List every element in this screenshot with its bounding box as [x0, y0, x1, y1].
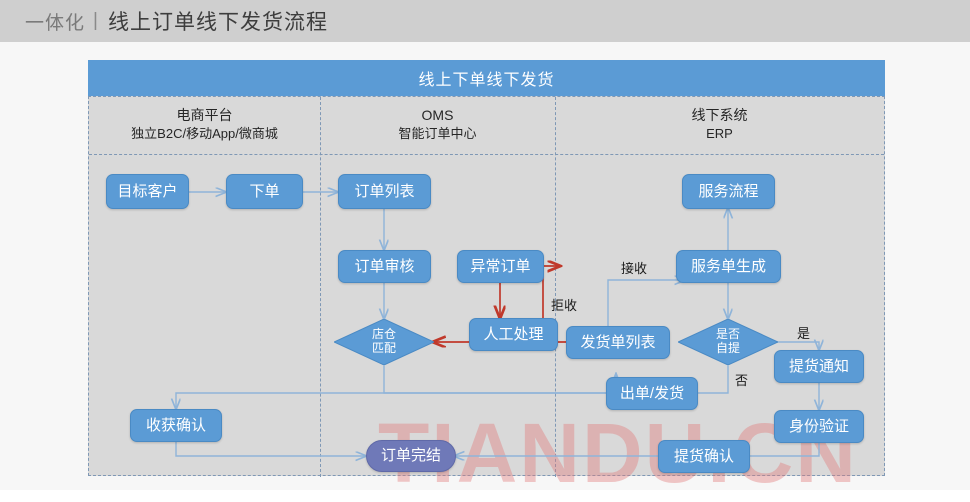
- edge-label-no: 否: [735, 370, 748, 389]
- flow-title-bar: 线上下单线下发货: [88, 60, 885, 96]
- node-manual-process[interactable]: 人工处理: [469, 318, 558, 351]
- lane-subtitle-oms: 智能订单中心: [320, 125, 555, 144]
- edge-label-reject: 拒收: [551, 295, 577, 314]
- node-shipment-list[interactable]: 发货单列表: [566, 326, 670, 359]
- header-prefix-label: 一体化: [25, 8, 85, 35]
- node-label: 服务流程: [698, 183, 758, 200]
- node-label: 身份验证: [789, 418, 849, 435]
- node-label: 订单审核: [354, 258, 414, 275]
- node-label: 收获确认: [146, 417, 206, 434]
- header-title-group: 一体化 | 线上订单线下发货流程: [25, 0, 328, 42]
- node-pickup-notice[interactable]: 提货通知: [774, 350, 864, 383]
- node-label: 下单: [249, 183, 279, 200]
- node-label: 提货确认: [674, 448, 734, 465]
- node-label: 人工处理: [483, 326, 543, 343]
- node-pickup-confirm[interactable]: 提货确认: [658, 440, 750, 473]
- node-abnormal-order[interactable]: 异常订单: [457, 250, 544, 283]
- node-label: 发货单列表: [580, 334, 655, 351]
- edge-label-yes: 是: [797, 323, 810, 342]
- flow-panel: 线上下单线下发货 电商平台 独立B2C/移动App/微商城 OMS 智能订单中心…: [88, 60, 885, 476]
- node-label: 服务单生成: [691, 258, 766, 275]
- node-label: 出单/发货: [620, 385, 684, 402]
- node-store-warehouse-match[interactable]: 店仓 匹配: [334, 319, 434, 365]
- node-order-list[interactable]: 订单列表: [338, 174, 431, 209]
- lane-title-ecommerce: 电商平台: [89, 105, 320, 125]
- node-label: 订单完结: [381, 447, 441, 464]
- lane-title-erp: 线下系统: [555, 105, 884, 125]
- diamond-shape: [334, 319, 434, 365]
- node-order-audit[interactable]: 订单审核: [338, 250, 431, 283]
- node-is-self-pickup[interactable]: 是否 自提: [678, 319, 778, 365]
- lane-title-oms: OMS: [320, 105, 555, 125]
- node-order-complete[interactable]: 订单完结: [366, 440, 456, 472]
- lane-subtitle-ecommerce: 独立B2C/移动App/微商城: [89, 125, 320, 144]
- node-label: 提货通知: [789, 358, 849, 375]
- page-header: 一体化 | 线上订单线下发货流程: [0, 0, 970, 42]
- node-service-order-gen[interactable]: 服务单生成: [676, 250, 781, 283]
- node-target-customer[interactable]: 目标客户: [106, 174, 189, 209]
- lane-subtitle-erp: ERP: [555, 125, 884, 144]
- node-receive-confirm[interactable]: 收获确认: [130, 409, 222, 442]
- diamond-shape: [678, 319, 778, 365]
- node-label: 订单列表: [354, 183, 414, 200]
- node-identity-verify[interactable]: 身份验证: [774, 410, 864, 443]
- lane-header-divider: [89, 154, 884, 155]
- lane-header-erp: 线下系统 ERP: [555, 105, 884, 144]
- node-ship-out[interactable]: 出单/发货: [606, 377, 698, 410]
- diagram-canvas: 线上下单线下发货 电商平台 独立B2C/移动App/微商城 OMS 智能订单中心…: [0, 42, 970, 490]
- lane-header-ecommerce: 电商平台 独立B2C/移动App/微商城: [89, 105, 320, 144]
- node-place-order[interactable]: 下单: [226, 174, 303, 209]
- node-label: 异常订单: [470, 258, 530, 275]
- flow-title-text: 线上下单线下发货: [418, 66, 554, 90]
- node-label: 目标客户: [117, 183, 177, 200]
- header-separator: |: [93, 10, 98, 32]
- edge-label-accept: 接收: [621, 258, 647, 277]
- node-service-flow[interactable]: 服务流程: [682, 174, 775, 209]
- page-title: 线上订单线下发货流程: [108, 6, 328, 36]
- lane-header-oms: OMS 智能订单中心: [320, 105, 555, 144]
